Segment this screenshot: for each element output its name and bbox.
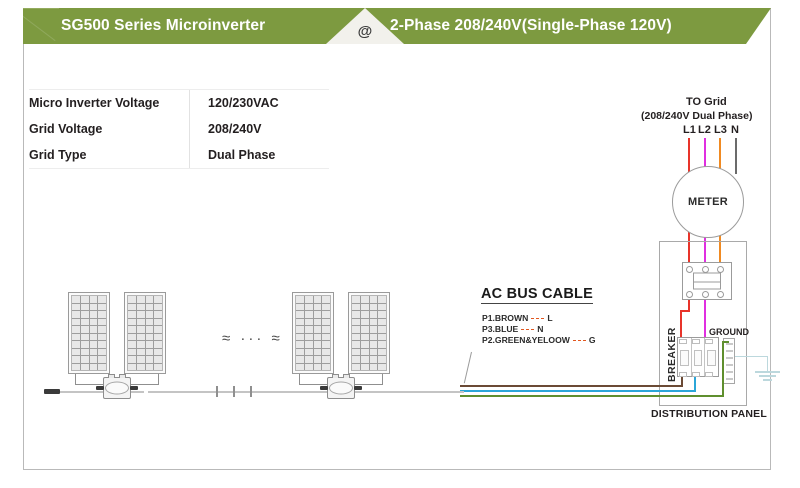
solar-panel [124, 292, 166, 374]
dc-lead [355, 384, 383, 385]
solar-panel-cells [71, 295, 107, 371]
dc-lead [299, 384, 327, 385]
solar-panel-cells [127, 295, 163, 371]
spec-value: 120/230VAC [190, 96, 279, 110]
diagram-page: @ SG500 Series Microinverter 2-Phase 208… [0, 0, 800, 488]
dc-lead [131, 384, 159, 385]
spec-value: 208/240V [190, 122, 262, 136]
spec-value: Dual Phase [190, 148, 275, 162]
legend-dash-icon [573, 340, 586, 341]
microinverter-mount-tab [119, 374, 126, 378]
microinverter: SG500 [103, 377, 131, 399]
spec-table: Micro Inverter Voltage 120/230VAC Grid V… [29, 90, 329, 168]
ground-bar-slot [726, 350, 733, 352]
header-ribbon: @ SG500 Series Microinverter 2-Phase 208… [23, 8, 771, 44]
breaker-terminal-bottom [705, 372, 713, 377]
main-breaker-terminal [702, 266, 709, 273]
solar-panel-cells [351, 295, 387, 371]
table-row: Micro Inverter Voltage 120/230VAC [29, 90, 329, 116]
main-breaker-switch [693, 273, 721, 290]
legend-line-ground: P2.GREEN&YELOOW G [482, 335, 596, 345]
spec-key: Grid Type [29, 142, 190, 168]
wire-l1-to-breaker [680, 310, 682, 338]
wire-n-upper [735, 138, 737, 174]
microinverter-connector [130, 386, 138, 390]
breaker-terminal-top [692, 339, 700, 344]
table-row: Grid Voltage 208/240V [29, 116, 329, 142]
legend-code: P2.GREEN&YELOOW [482, 335, 570, 345]
microinverter-mount-tab [108, 374, 115, 378]
header-title-left: SG500 Series Microinverter [61, 8, 265, 44]
legend-dash-icon [521, 329, 534, 330]
meter: METER [672, 166, 744, 238]
ac-bus-cable-title: AC BUS CABLE [481, 286, 593, 304]
wire-l2-to-breaker [704, 300, 706, 338]
breaker-label: BREAKER [666, 327, 678, 382]
legend-target: L [547, 313, 552, 323]
main-breaker-terminal [686, 266, 693, 273]
solar-panel [348, 292, 390, 374]
earth-symbol-bar2 [759, 375, 776, 377]
wire-ground-horizontal [460, 395, 724, 397]
ground-bar-slot [726, 357, 733, 359]
phase-label-n: N [731, 124, 739, 136]
spec-key: Grid Voltage [29, 116, 190, 142]
to-grid-label-line2: (208/240V Dual Phase) [641, 110, 752, 122]
ground-bar-slot [726, 371, 733, 373]
ground-bar-slot [726, 364, 733, 366]
cable-break-mark [250, 386, 252, 397]
spec-table-bottom-rule [29, 168, 329, 169]
legend-code: P3.BLUE [482, 324, 518, 334]
wire-l1-upper [688, 138, 690, 174]
microinverter: SG500 [327, 377, 355, 399]
legend-code: P1.BROWN [482, 313, 528, 323]
main-breaker-terminal [717, 291, 724, 298]
array-continuation-marker: ≈ ··· ≈ [222, 330, 283, 347]
solar-panel-cells [295, 295, 331, 371]
breaker-terminal-top [679, 339, 687, 344]
earth-symbol-bar1 [755, 371, 780, 373]
ac-bus-end-cap [44, 389, 60, 394]
ground-bar [723, 338, 735, 384]
microinverter-connector [96, 386, 104, 390]
wire-ground-vertical [722, 341, 724, 397]
solar-panel [68, 292, 110, 374]
wire-l3-upper [719, 138, 721, 171]
phase-label-l1: L1 [683, 124, 696, 136]
ground-bar-slot [726, 378, 733, 380]
wire-earth-link [735, 356, 768, 357]
phase-label-l3: L3 [714, 124, 727, 136]
earth-symbol-bar3 [763, 379, 772, 381]
header-title-right: 2-Phase 208/240V(Single-Phase 120V) [390, 8, 672, 44]
main-breaker-terminal [717, 266, 724, 273]
microinverter-mount-tab [332, 374, 339, 378]
table-row: Grid Type Dual Phase [29, 142, 329, 168]
legend-target: G [589, 335, 596, 345]
breaker-terminal-top [705, 339, 713, 344]
solar-panel [292, 292, 334, 374]
cable-break-mark [233, 386, 235, 397]
phase-label-l2: L2 [698, 124, 711, 136]
spec-key: Micro Inverter Voltage [29, 90, 190, 116]
legend-target: N [537, 324, 543, 334]
cable-break-mark [216, 386, 218, 397]
main-breaker-terminal [686, 291, 693, 298]
microinverter-connector [320, 386, 328, 390]
microinverter-connector [354, 386, 362, 390]
legend-line-brown: P1.BROWN L [482, 313, 553, 323]
ac-bus-trunk-right [148, 391, 464, 393]
wire-brown-horizontal [460, 385, 683, 387]
main-breaker-terminal [702, 291, 709, 298]
dc-lead [75, 384, 103, 385]
microinverter-faceplate [329, 382, 353, 395]
legend-line-blue: P3.BLUE N [482, 324, 544, 334]
microinverter-faceplate [105, 382, 129, 395]
distribution-panel-label: DISTRIBUTION PANEL [651, 408, 767, 420]
wire-blue-vertical [694, 377, 696, 390]
to-grid-label-line1: TO Grid [686, 96, 727, 108]
ground-label: GROUND [709, 327, 749, 337]
microinverter-mount-tab [343, 374, 350, 378]
wire-earth-drop [767, 356, 768, 371]
wire-blue-horizontal [460, 390, 696, 392]
legend-dash-icon [531, 318, 544, 319]
